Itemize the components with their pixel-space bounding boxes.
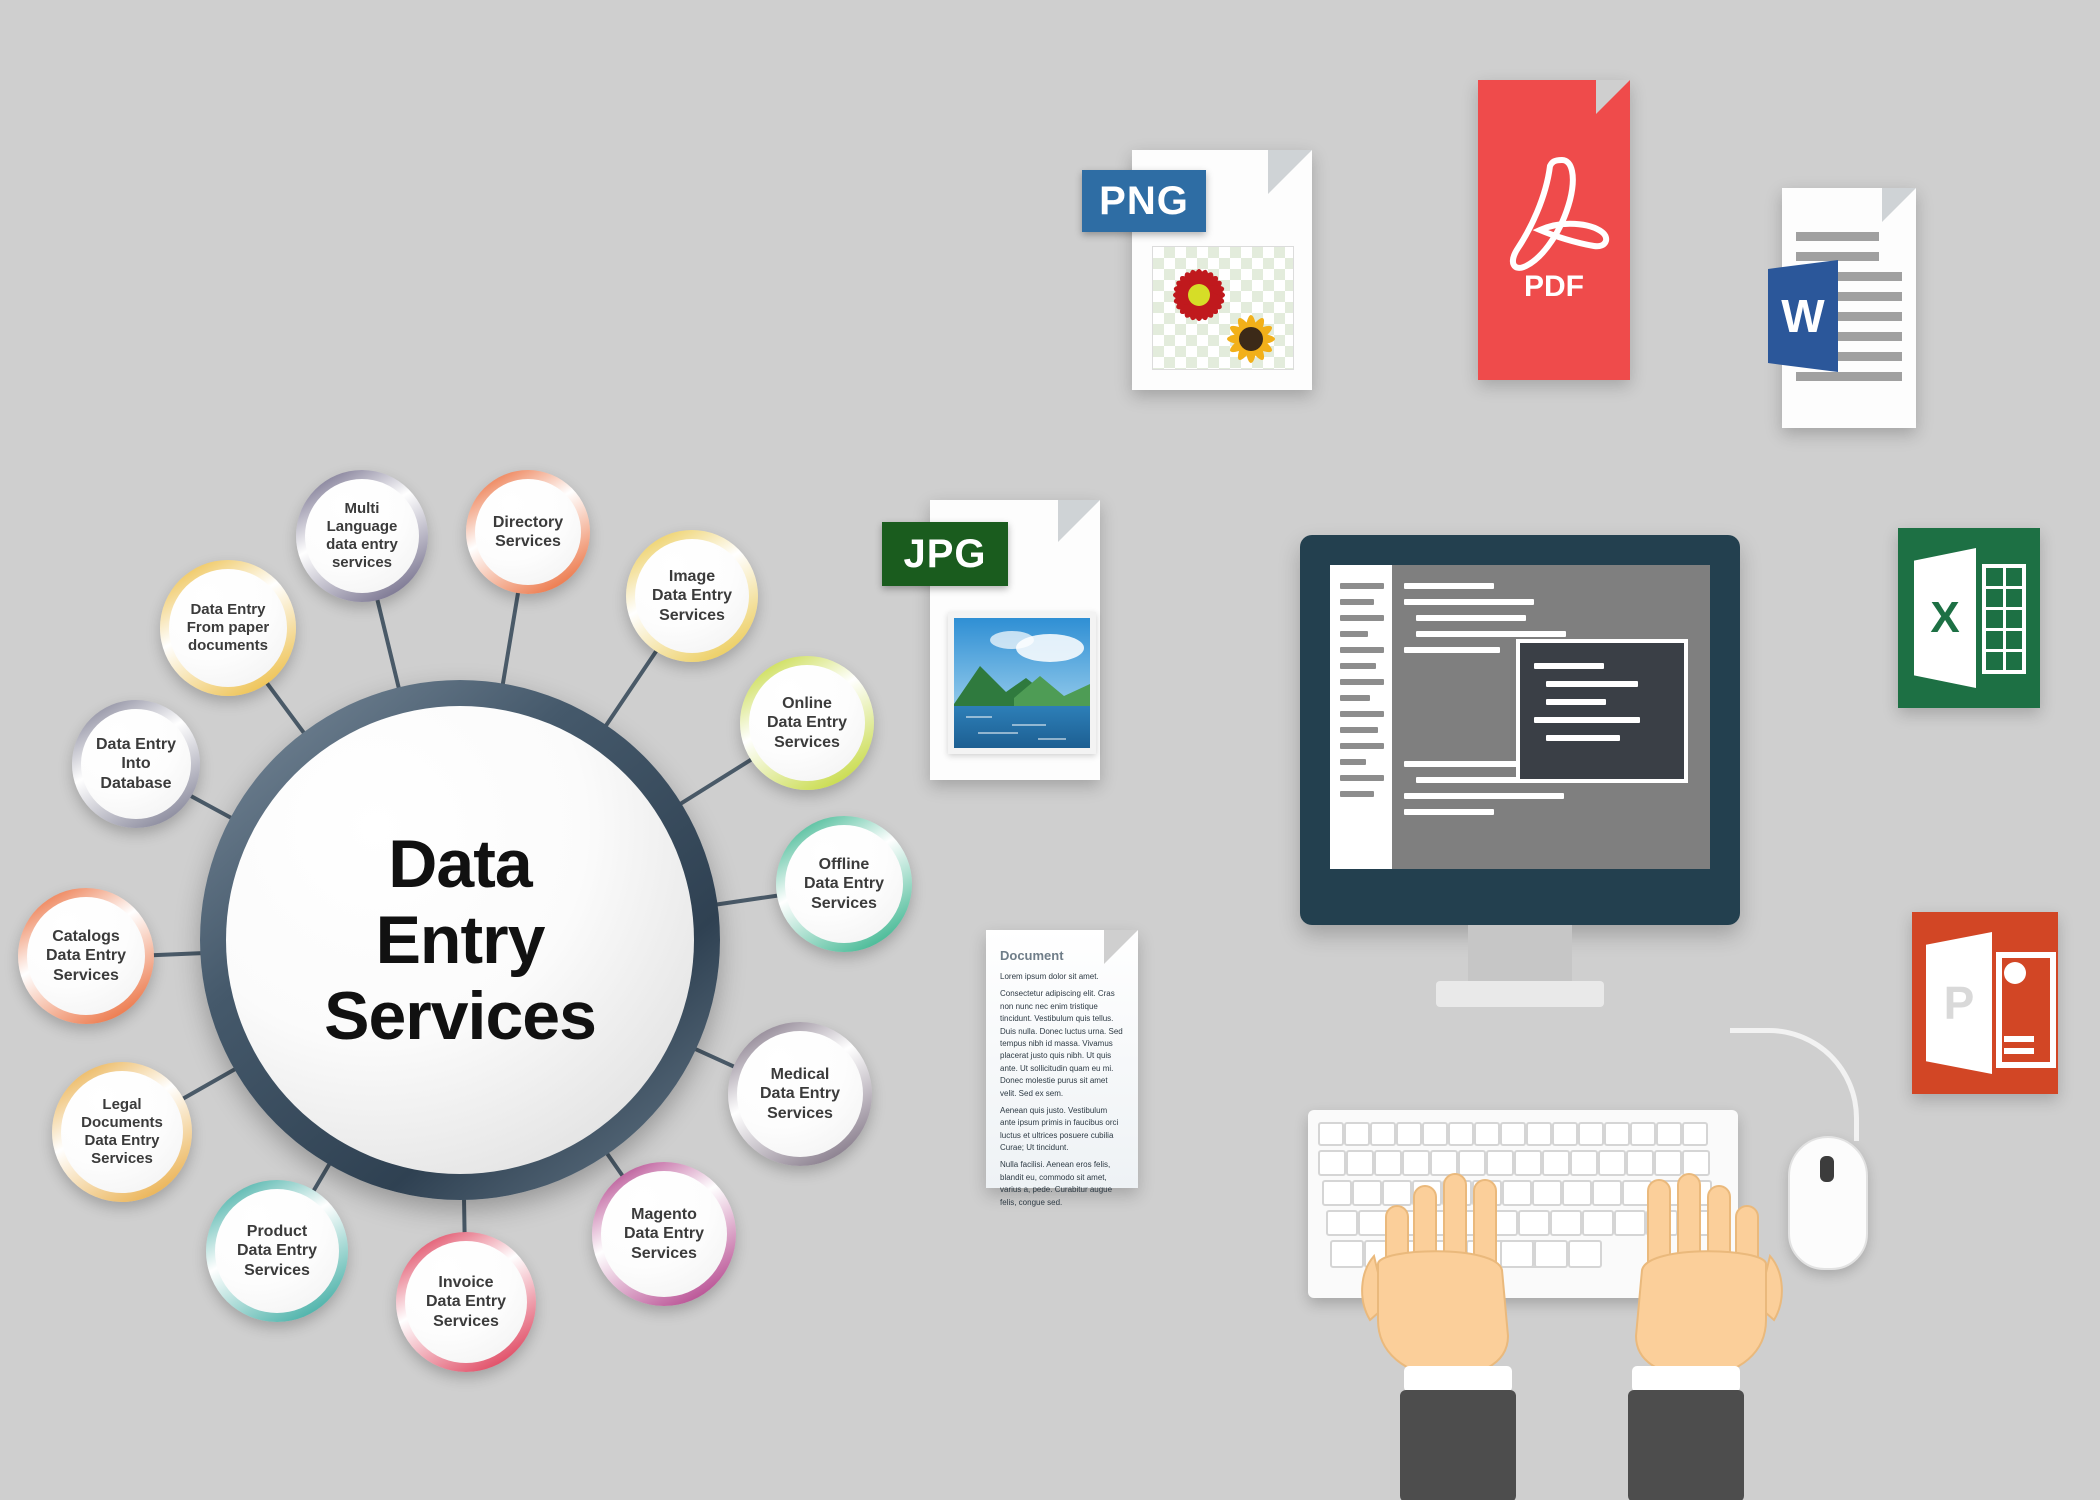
- service-bubble-medical[interactable]: MedicalData EntryServices: [728, 1022, 872, 1166]
- doc-paragraph: Aenean quis justo. Vestibulum ante ipsum…: [1000, 1105, 1124, 1155]
- doc-paragraph: Consectetur adipiscing elit. Cras non nu…: [1000, 988, 1124, 1100]
- hub-face: Data Entry Services: [226, 706, 694, 1174]
- hub-title-line-2: Entry: [376, 902, 545, 978]
- word-letter: W: [1768, 260, 1838, 372]
- infographic-canvas: MultiLanguagedata entryservicesDirectory…: [0, 0, 2100, 1500]
- monitor-screen: [1330, 565, 1710, 869]
- jpg-thumbnail: [948, 612, 1096, 754]
- keyboard-key[interactable]: [1396, 1122, 1422, 1146]
- keyboard-key[interactable]: [1656, 1122, 1682, 1146]
- bubble-face: InvoiceData EntryServices: [405, 1241, 527, 1363]
- keyboard-key[interactable]: [1326, 1210, 1358, 1236]
- monitor-neck: [1468, 925, 1572, 981]
- bubble-face: Data EntryIntoDatabase: [81, 709, 191, 819]
- bubble-face: MedicalData EntryServices: [737, 1031, 863, 1157]
- page-fold-icon: [1268, 150, 1312, 194]
- bubble-face: OfflineData EntryServices: [785, 825, 903, 943]
- keyboard-key[interactable]: [1682, 1122, 1708, 1146]
- jpg-file-icon[interactable]: JPG: [930, 500, 1100, 780]
- service-bubble-label: MultiLanguagedata entryservices: [320, 500, 404, 572]
- bubble-face: ImageData EntryServices: [635, 539, 749, 653]
- keyboard-key[interactable]: [1370, 1122, 1396, 1146]
- page-fold-icon: [1058, 500, 1100, 542]
- service-bubble-label: CatalogsData EntryServices: [40, 927, 132, 985]
- central-hub: Data Entry Services: [200, 680, 720, 1200]
- jpg-format-badge: JPG: [882, 522, 1008, 586]
- mouse[interactable]: [1788, 1136, 1868, 1270]
- excel-file-icon[interactable]: X: [1898, 528, 2040, 708]
- service-bubble-label: DirectoryServices: [487, 513, 569, 551]
- screen-code-editor: [1330, 565, 1710, 869]
- ppt-logo-panel: P: [1926, 932, 1992, 1074]
- excel-letter: X: [1914, 548, 1976, 688]
- excel-grid-icon: [1982, 564, 2026, 674]
- mouse-scroll-button[interactable]: [1820, 1156, 1834, 1182]
- service-bubble-label: InvoiceData EntryServices: [420, 1273, 512, 1331]
- doc-corner-fold-icon: [1104, 930, 1138, 964]
- keyboard-key[interactable]: [1318, 1150, 1346, 1176]
- keyboard-key[interactable]: [1322, 1180, 1352, 1206]
- service-bubble-directory[interactable]: DirectoryServices: [466, 470, 590, 594]
- bubble-face: CatalogsData EntryServices: [27, 897, 145, 1015]
- keyboard-key[interactable]: [1474, 1122, 1500, 1146]
- ppt-letter: P: [1926, 932, 1992, 1074]
- service-bubble-label: MedicalData EntryServices: [754, 1065, 846, 1123]
- service-bubble-multi-language[interactable]: MultiLanguagedata entryservices: [296, 470, 428, 602]
- service-bubble-offline-data-entry[interactable]: OfflineData EntryServices: [776, 816, 912, 952]
- service-bubble-label: OfflineData EntryServices: [798, 855, 890, 913]
- service-bubble-label: MagentoData EntryServices: [618, 1205, 710, 1263]
- pdf-label: PDF: [1478, 270, 1630, 304]
- excel-logo-panel: X: [1914, 548, 1976, 688]
- pdf-file-icon[interactable]: PDF: [1478, 80, 1630, 380]
- service-bubble-label: OnlineData EntryServices: [761, 694, 853, 752]
- right-hand: [1568, 1160, 1788, 1500]
- hub-title-line-1: Data: [388, 826, 531, 902]
- bubble-connector: [150, 951, 204, 957]
- keyboard-key[interactable]: [1578, 1122, 1604, 1146]
- mouse-cable: [1730, 1028, 1859, 1141]
- service-bubble-image-data-entry[interactable]: ImageData EntryServices: [626, 530, 758, 662]
- ppt-slide-icon: [1996, 952, 2056, 1068]
- png-file-icon[interactable]: PNG: [1132, 150, 1312, 390]
- keyboard-key[interactable]: [1630, 1122, 1656, 1146]
- keyboard-key[interactable]: [1344, 1122, 1370, 1146]
- hub-title-line-3: Services: [324, 978, 596, 1054]
- bubble-connector: [713, 893, 781, 907]
- service-bubble-label: Data EntryIntoDatabase: [90, 735, 182, 793]
- bubble-face: OnlineData EntryServices: [749, 665, 865, 781]
- service-bubble-data-entry-paper[interactable]: Data EntryFrom paperdocuments: [160, 560, 296, 696]
- keyboard-key[interactable]: [1552, 1122, 1578, 1146]
- page-fold-icon: [1882, 188, 1916, 222]
- word-logo-panel: W: [1768, 260, 1838, 372]
- service-bubble-label: Data EntryFrom paperdocuments: [181, 601, 276, 655]
- powerpoint-file-icon[interactable]: P: [1912, 912, 2058, 1094]
- service-bubble-product[interactable]: ProductData EntryServices: [206, 1180, 348, 1322]
- doc-paragraph: Nulla facilisi. Aenean eros felis, bland…: [1000, 1159, 1124, 1209]
- left-hand: [1356, 1160, 1576, 1500]
- service-bubble-data-entry-database[interactable]: Data EntryIntoDatabase: [72, 700, 200, 828]
- service-bubble-catalogs[interactable]: CatalogsData EntryServices: [18, 888, 154, 1024]
- text-document-icon[interactable]: Document Lorem ipsum dolor sit amet. Con…: [986, 930, 1138, 1188]
- bubble-connector: [500, 591, 520, 690]
- service-bubble-legal-documents[interactable]: LegalDocumentsData EntryServices: [52, 1062, 192, 1202]
- keyboard-key[interactable]: [1604, 1122, 1630, 1146]
- terminal-window: [1516, 639, 1688, 783]
- computer-monitor[interactable]: [1300, 535, 1740, 925]
- service-bubble-online-data-entry[interactable]: OnlineData EntryServices: [740, 656, 874, 790]
- keyboard-key[interactable]: [1422, 1122, 1448, 1146]
- png-thumbnail: [1152, 246, 1294, 370]
- keyboard-key[interactable]: [1448, 1122, 1474, 1146]
- monitor-base: [1436, 981, 1604, 1007]
- service-bubble-label: ImageData EntryServices: [646, 567, 738, 625]
- bubble-face: DirectoryServices: [475, 479, 581, 585]
- keyboard-key[interactable]: [1500, 1122, 1526, 1146]
- doc-paragraph: Lorem ipsum dolor sit amet.: [1000, 971, 1124, 983]
- service-bubble-label: LegalDocumentsData EntryServices: [75, 1096, 169, 1168]
- bubble-face: Data EntryFrom paperdocuments: [169, 569, 287, 687]
- bubble-face: MultiLanguagedata entryservices: [305, 479, 419, 593]
- png-format-badge: PNG: [1082, 170, 1206, 232]
- keyboard-key[interactable]: [1318, 1122, 1344, 1146]
- service-bubble-invoice[interactable]: InvoiceData EntryServices: [396, 1232, 536, 1372]
- word-file-icon[interactable]: W: [1768, 188, 1916, 428]
- service-bubble-label: ProductData EntryServices: [231, 1222, 323, 1280]
- bubble-face: ProductData EntryServices: [215, 1189, 339, 1313]
- bubble-face: LegalDocumentsData EntryServices: [61, 1071, 183, 1193]
- keyboard-key[interactable]: [1526, 1122, 1552, 1146]
